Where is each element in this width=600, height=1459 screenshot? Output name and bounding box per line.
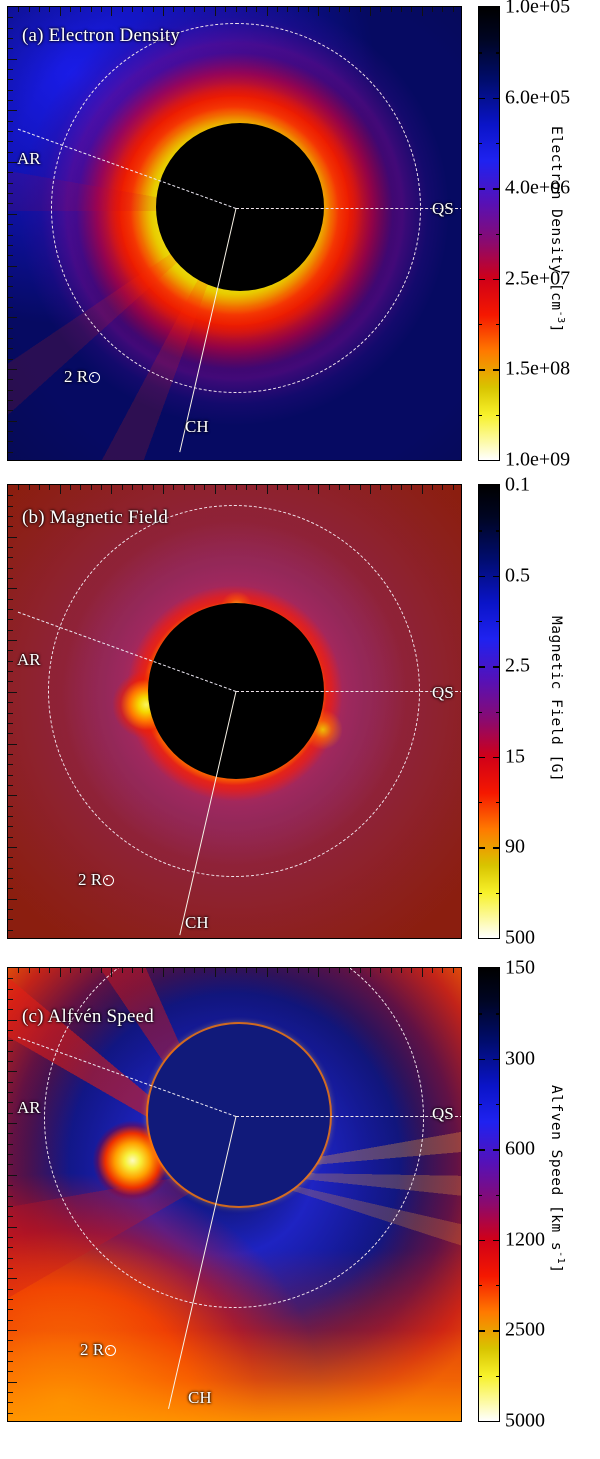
colorbar-major-tick bbox=[478, 1240, 485, 1241]
colorbar-minor-tick bbox=[496, 1376, 500, 1377]
colorbar-minor-tick bbox=[478, 1013, 482, 1014]
colorbar-major-tick bbox=[478, 757, 485, 758]
colorbar-minor-tick bbox=[478, 234, 482, 235]
colorbar-tick-label: 90 bbox=[505, 836, 525, 859]
colorbar-minor-tick bbox=[496, 1013, 500, 1014]
radius-text: 2 R bbox=[64, 367, 88, 386]
colorbar-minor-tick bbox=[478, 712, 482, 713]
colorbar-minor-tick bbox=[478, 893, 482, 894]
colorbar-major-tick bbox=[478, 938, 485, 939]
label-qs: QS bbox=[432, 683, 454, 703]
colorbar-minor-tick bbox=[496, 1195, 500, 1196]
map-electron-density[interactable]: (a) Electron Density AR QS CH 2 R bbox=[7, 6, 462, 461]
colorbar-major-tick bbox=[478, 7, 485, 8]
figure-root: (a) Electron Density AR QS CH 2 R 1.0e+0… bbox=[0, 0, 600, 1459]
solar-symbol-icon bbox=[89, 372, 100, 383]
colorbar-major-tick bbox=[478, 666, 485, 667]
colorbar-tick-label: 0.1 bbox=[505, 474, 530, 497]
panel-title: (c) Alfvén Speed bbox=[22, 1006, 154, 1028]
axis-title-exponent: -1 bbox=[555, 1251, 566, 1264]
colorbar-major-tick bbox=[478, 968, 485, 969]
colorbar-tick-label: 1.0e+05 bbox=[505, 0, 570, 19]
map-image-magnetic-field: (b) Magnetic Field AR QS CH 2 R bbox=[8, 485, 461, 938]
colorbar-minor-tick bbox=[478, 1104, 482, 1105]
colorbar-minor-tick bbox=[496, 52, 500, 53]
label-two-solar-radii: 2 R bbox=[80, 1340, 116, 1360]
colorbar-minor-tick bbox=[478, 1195, 482, 1196]
colorbar-tick-label: 500 bbox=[505, 927, 535, 950]
colorbar-major-tick bbox=[478, 188, 485, 189]
colorbar-major-tick bbox=[493, 938, 500, 939]
colorbar-major-tick bbox=[493, 485, 500, 486]
colorbar-tick-label: 1.5e+08 bbox=[505, 358, 570, 381]
colorbar-electron-density: 1.0e+056.0e+054.0e+062.5e+071.5e+081.0e+… bbox=[478, 6, 600, 461]
colorbar-tick-label: 1.0e+09 bbox=[505, 449, 570, 472]
colorbar-minor-tick bbox=[478, 415, 482, 416]
radius-text: 2 R bbox=[80, 1340, 104, 1359]
map-image-electron-density: (a) Electron Density AR QS CH 2 R bbox=[8, 7, 461, 460]
colorbar-minor-tick bbox=[478, 530, 482, 531]
colorbar-magnetic-field: 0.10.52.51590500 Magnetic Field [G] bbox=[478, 484, 600, 939]
colorbar-minor-tick bbox=[478, 52, 482, 53]
label-two-solar-radii: 2 R bbox=[78, 870, 114, 890]
colorbar-minor-tick bbox=[478, 143, 482, 144]
colorbar-minor-tick bbox=[496, 1285, 500, 1286]
colorbar-tick-label: 2500 bbox=[505, 1319, 545, 1342]
colorbar-major-tick bbox=[478, 460, 485, 461]
colorbar-axis-title: Alfven Speed [km s-1] bbox=[548, 1085, 566, 1273]
panel-title: (a) Electron Density bbox=[22, 25, 180, 47]
colorbar-minor-tick bbox=[496, 530, 500, 531]
colorbar-major-tick bbox=[478, 576, 485, 577]
colorbar-major-tick bbox=[478, 485, 485, 486]
colorbar-major-tick bbox=[493, 98, 500, 99]
colorbar-alfven-speed: 150300600120025005000 Alfven Speed [km s… bbox=[478, 967, 600, 1422]
colorbar-minor-tick bbox=[478, 621, 482, 622]
colorbar-major-tick bbox=[478, 1149, 485, 1150]
axis-title-text: Electron Density [cm bbox=[548, 126, 564, 311]
colorbar-major-tick bbox=[493, 188, 500, 189]
colorbar-major-tick bbox=[493, 1330, 500, 1331]
colorbar-minor-tick bbox=[496, 415, 500, 416]
colorbar-major-tick bbox=[493, 1240, 500, 1241]
panel-title: (b) Magnetic Field bbox=[22, 507, 168, 529]
colorbar-minor-tick bbox=[496, 712, 500, 713]
colorbar-minor-tick bbox=[478, 1285, 482, 1286]
radius-text: 2 R bbox=[78, 870, 102, 889]
axis-title-exponent: -3 bbox=[555, 311, 566, 324]
colorbar-tick-label: 600 bbox=[505, 1138, 535, 1161]
axis-title-text: Magnetic Field [G] bbox=[548, 616, 564, 782]
colorbar-major-tick bbox=[493, 666, 500, 667]
colorbar-major-tick bbox=[493, 369, 500, 370]
colorbar-major-tick bbox=[478, 847, 485, 848]
colorbar-ticks bbox=[478, 967, 500, 1422]
colorbar-major-tick bbox=[478, 369, 485, 370]
label-ar: AR bbox=[17, 1098, 41, 1118]
two-solar-radii-circle bbox=[51, 23, 421, 393]
label-qs: QS bbox=[432, 199, 454, 219]
colorbar-minor-tick bbox=[496, 621, 500, 622]
map-alfven-speed[interactable]: (c) Alfvén Speed AR QS CH 2 R bbox=[7, 967, 462, 1422]
map-magnetic-field[interactable]: (b) Magnetic Field AR QS CH 2 R bbox=[7, 484, 462, 939]
colorbar-major-tick bbox=[478, 98, 485, 99]
colorbar-major-tick bbox=[493, 1149, 500, 1150]
colorbar-axis-title: Magnetic Field [G] bbox=[548, 616, 566, 782]
colorbar-major-tick bbox=[493, 1421, 500, 1422]
colorbar-major-tick bbox=[478, 1059, 485, 1060]
colorbar-minor-tick bbox=[478, 324, 482, 325]
colorbar-tick-label: 300 bbox=[505, 1047, 535, 1070]
axis-title-tail: ] bbox=[548, 1264, 564, 1273]
colorbar-tick-label: 150 bbox=[505, 957, 535, 980]
colorbar-minor-tick bbox=[496, 324, 500, 325]
colorbar-minor-tick bbox=[496, 234, 500, 235]
label-ch: CH bbox=[188, 1388, 212, 1408]
label-qs: QS bbox=[432, 1104, 454, 1124]
axis-title-text: Alfven Speed [km s bbox=[548, 1085, 564, 1251]
colorbar-major-tick bbox=[478, 1330, 485, 1331]
colorbar-major-tick bbox=[493, 576, 500, 577]
colorbar-major-tick bbox=[493, 460, 500, 461]
colorbar-ticks bbox=[478, 6, 500, 461]
colorbar-major-tick bbox=[478, 1421, 485, 1422]
colorbar-tick-label: 15 bbox=[505, 745, 525, 768]
two-solar-radii-circle bbox=[48, 505, 420, 877]
colorbar-tick-label: 2.5 bbox=[505, 655, 530, 678]
map-image-alfven-speed: (c) Alfvén Speed AR QS CH 2 R bbox=[8, 968, 461, 1421]
label-ar: AR bbox=[17, 149, 41, 169]
colorbar-minor-tick bbox=[496, 143, 500, 144]
colorbar-tick-label: 1200 bbox=[505, 1228, 545, 1251]
colorbar-major-tick bbox=[493, 847, 500, 848]
colorbar-major-tick bbox=[478, 279, 485, 280]
colorbar-major-tick bbox=[493, 279, 500, 280]
colorbar-tick-label: 0.5 bbox=[505, 564, 530, 587]
label-two-solar-radii: 2 R bbox=[64, 367, 100, 387]
solar-symbol-icon bbox=[103, 875, 114, 886]
label-ar: AR bbox=[17, 650, 41, 670]
colorbar-minor-tick bbox=[478, 802, 482, 803]
colorbar-minor-tick bbox=[496, 802, 500, 803]
colorbar-minor-tick bbox=[478, 1376, 482, 1377]
label-ch: CH bbox=[185, 417, 209, 437]
colorbar-ticks bbox=[478, 484, 500, 939]
colorbar-tick-label: 5000 bbox=[505, 1410, 545, 1433]
colorbar-major-tick bbox=[493, 7, 500, 8]
colorbar-tick-label: 6.0e+05 bbox=[505, 86, 570, 109]
axis-title-tail: ] bbox=[548, 324, 564, 333]
colorbar-axis-title: Electron Density [cm-3] bbox=[548, 126, 566, 333]
colorbar-major-tick bbox=[493, 968, 500, 969]
label-ch: CH bbox=[185, 913, 209, 933]
solar-symbol-icon bbox=[105, 1345, 116, 1356]
colorbar-minor-tick bbox=[496, 1104, 500, 1105]
colorbar-major-tick bbox=[493, 1059, 500, 1060]
colorbar-minor-tick bbox=[496, 893, 500, 894]
colorbar-major-tick bbox=[493, 757, 500, 758]
